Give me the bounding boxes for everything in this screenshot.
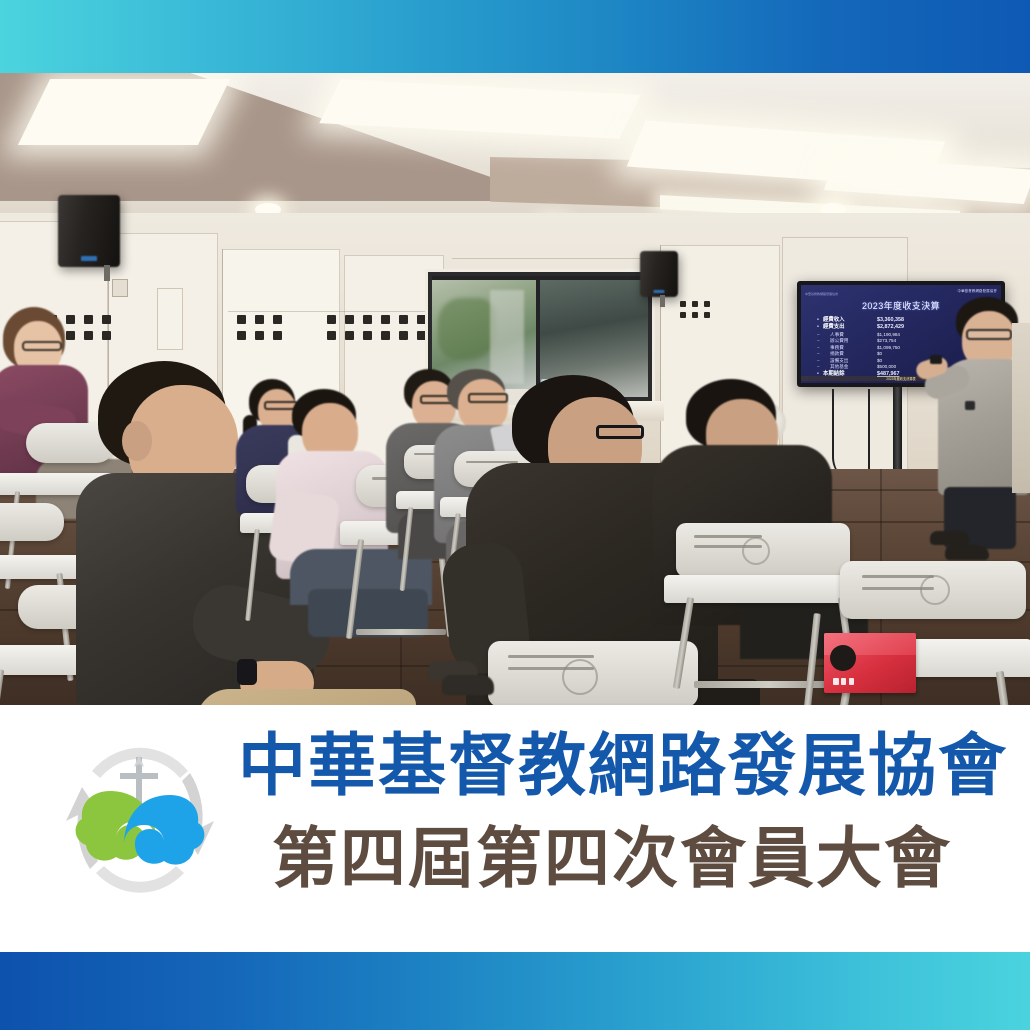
gift-box-dots	[833, 678, 854, 685]
ceiling-speaker-right	[640, 251, 678, 297]
title-line-secondary: 第四屆第四次會員大會	[272, 824, 998, 893]
wall-plate	[157, 288, 183, 350]
poster-root: 中華基督教網路發展協會 中華基督教網路發展協會 2023年度收支決算 •經費收入…	[0, 0, 1030, 1030]
presenter-watch	[965, 401, 975, 410]
ceiling-speaker-left	[58, 195, 120, 267]
slide-corner-label: 中華基督教網路發展協會	[805, 292, 838, 296]
speaker-badge-left	[81, 256, 97, 261]
speaker-badge-right	[654, 290, 665, 293]
speaker-mount-right	[660, 295, 665, 307]
attendee-watch	[237, 659, 257, 685]
wall-junction-box	[112, 279, 128, 297]
speaker-mount-left	[104, 265, 110, 281]
attendee-glasses	[596, 425, 644, 439]
attendee-glasses	[468, 393, 508, 403]
shoe-floor-2	[442, 675, 494, 695]
logo-arc-bottom	[96, 866, 184, 893]
association-logo	[52, 733, 228, 909]
presenter-pointer	[930, 355, 942, 364]
attendee-head	[458, 379, 508, 431]
wall-perforations-mid	[237, 315, 282, 340]
caption-block: 中華基督教網路發展協會 第四屆第四次會員大會	[0, 705, 1030, 952]
presenter-shoe-right	[945, 545, 989, 560]
presenter-shoe-left	[930, 531, 970, 545]
bottom-gradient-bar	[0, 952, 1030, 1030]
attendee-ear	[122, 421, 152, 461]
title-line-primary: 中華基督教網路發展協會	[238, 731, 998, 802]
wall-perforations-right	[680, 301, 710, 318]
window-building	[490, 290, 524, 384]
attendee-legs	[196, 689, 416, 705]
panel-seam-3	[228, 311, 440, 312]
gift-box-right-chair	[824, 633, 916, 693]
panel-seam-5	[452, 258, 662, 259]
doorframe-right	[1012, 323, 1030, 493]
top-gradient-bar	[0, 0, 1030, 73]
ceiling-light-1	[18, 79, 230, 145]
window-tree-foliage	[438, 298, 496, 360]
event-photo: 中華基督教網路發展協會 中華基督教網路發展協會 2023年度收支決算 •經費收入…	[0, 73, 1030, 705]
presenter-glasses	[966, 329, 1012, 340]
slide-header-logo: 中華基督教網路發展協會	[958, 288, 998, 293]
attendee-glasses	[22, 341, 62, 351]
title-stack: 中華基督教網路發展協會 第四屆第四次會員大會	[238, 731, 998, 892]
